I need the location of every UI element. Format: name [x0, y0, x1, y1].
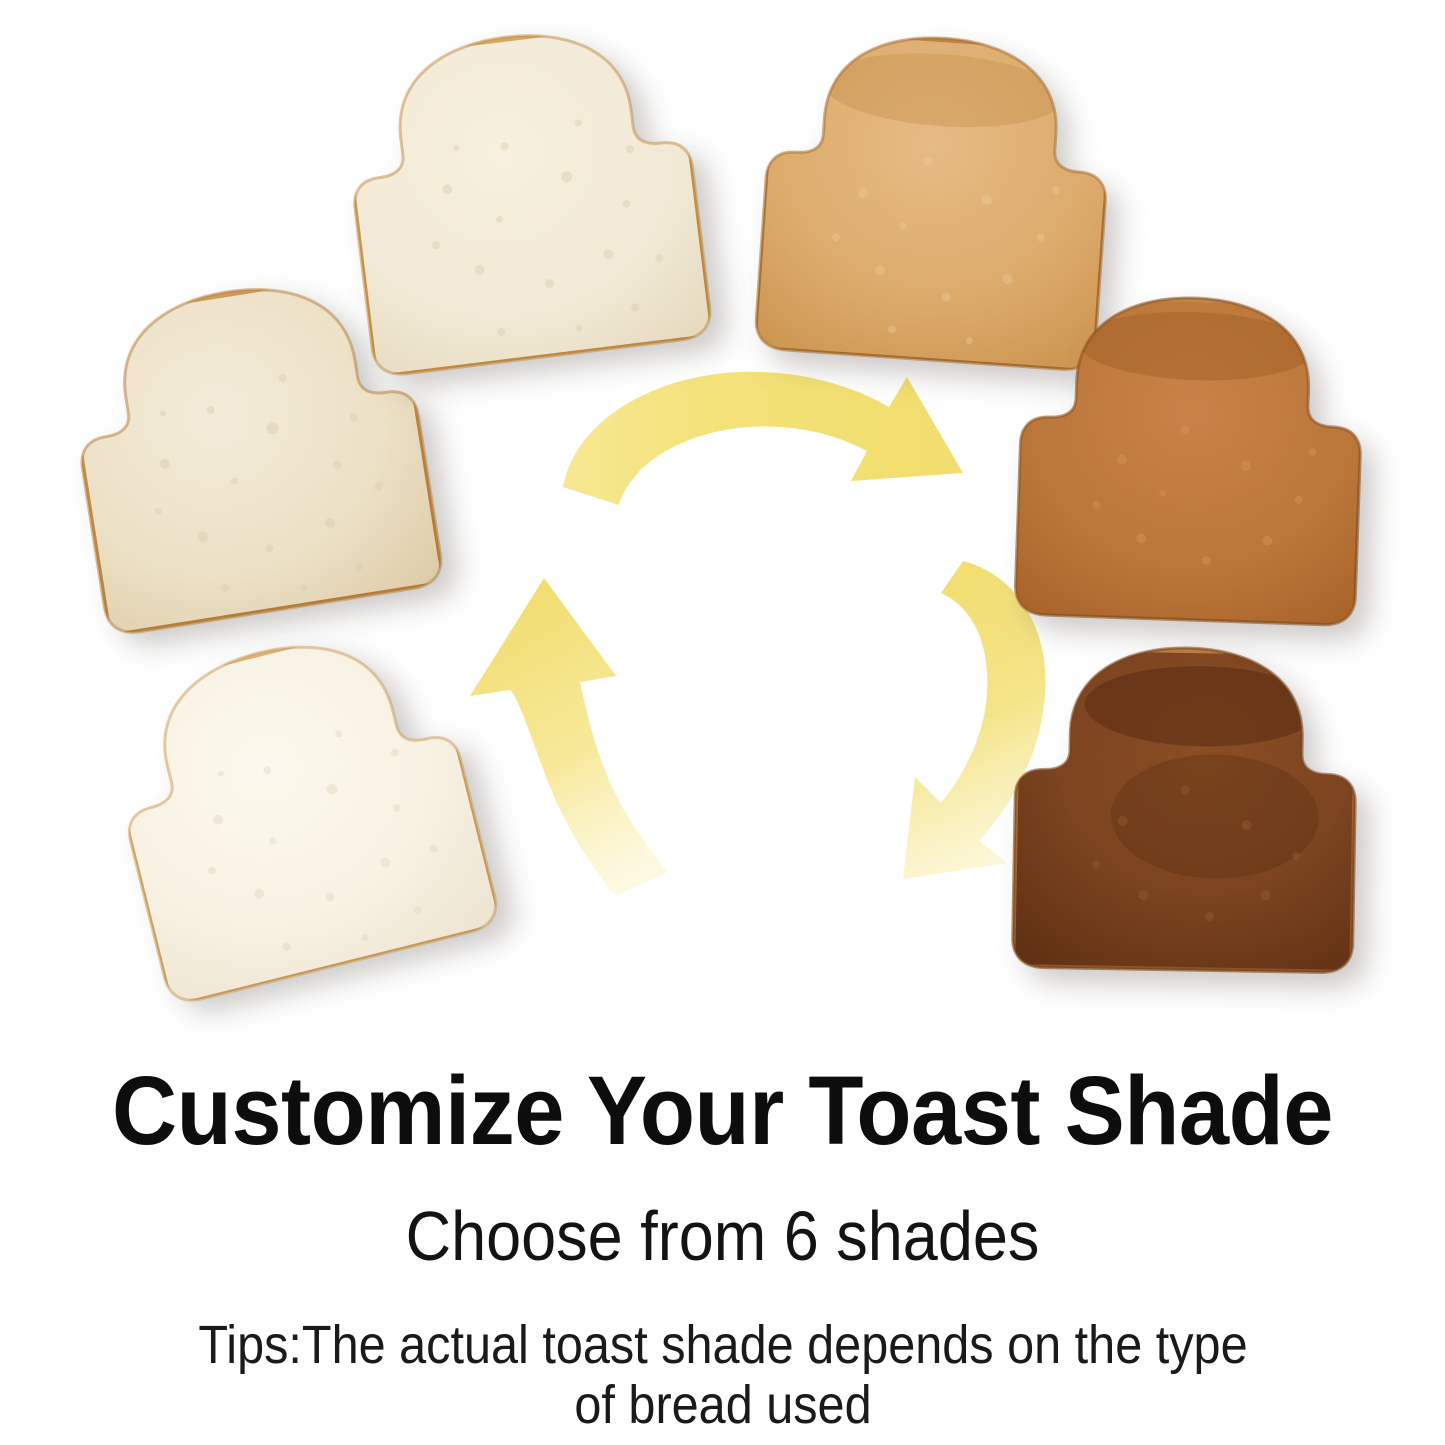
tips-note: Tips:The actual toast shade depends on t…: [192, 1271, 1254, 1436]
toast-shade-diagram: [0, 0, 1445, 1040]
toast-shade-infographic: Customize Your Toast Shade Choose from 6…: [0, 0, 1445, 1445]
arrow-top-clockwise-icon: [545, 355, 975, 555]
page-title: Customize Your Toast Shade: [51, 1040, 1395, 1159]
toast-slice-shade-5: [1004, 284, 1376, 636]
page-subtitle: Choose from 6 shades: [72, 1159, 1373, 1271]
toast-slice-shade-2: [326, 7, 725, 388]
toast-slice-shade-6: [1002, 637, 1368, 983]
caption-block: Customize Your Toast Shade Choose from 6…: [0, 1040, 1445, 1445]
